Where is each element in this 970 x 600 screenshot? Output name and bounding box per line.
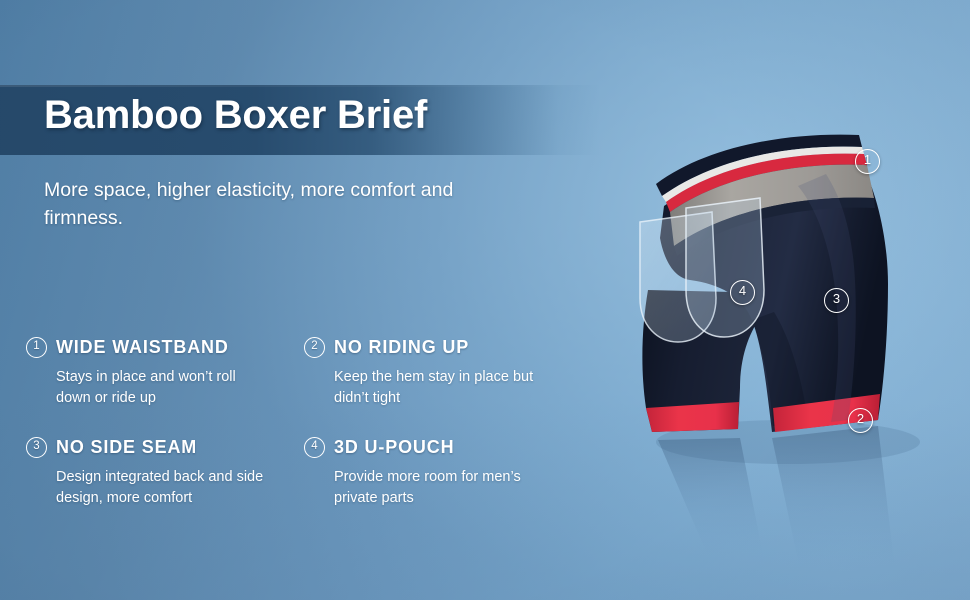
feature-item-4: 4 3D U-POUCH Provide more room for men’s… [304, 436, 582, 536]
infographic-banner: Bamboo Boxer Brief More space, higher el… [0, 0, 970, 600]
feature-1-description: Stays in place and won’t roll down or ri… [56, 367, 271, 409]
page-subtitle: More space, higher elasticity, more comf… [44, 177, 474, 232]
feature-3-title: NO SIDE SEAM [56, 436, 197, 458]
feature-3-heading: 3 NO SIDE SEAM [26, 436, 304, 458]
u-pouch-overlay [640, 198, 764, 342]
feature-1-number-icon: 1 [26, 337, 47, 358]
page-title: Bamboo Boxer Brief [44, 93, 427, 138]
product-callout-3: 3 [824, 288, 849, 313]
feature-4-description: Provide more room for men’s private part… [334, 467, 549, 509]
feature-4-number-icon: 4 [304, 437, 325, 458]
feature-4-heading: 4 3D U-POUCH [304, 436, 582, 458]
feature-item-1: 1 WIDE WAISTBAND Stays in place and won’… [26, 336, 304, 436]
feature-2-description: Keep the hem stay in place but didn’t ti… [334, 367, 549, 409]
feature-1-title: WIDE WAISTBAND [56, 336, 229, 358]
feature-3-description: Design integrated back and side design, … [56, 467, 271, 509]
product-image: 1 2 3 4 [612, 120, 970, 590]
feature-2-heading: 2 NO RIDING UP [304, 336, 582, 358]
feature-1-heading: 1 WIDE WAISTBAND [26, 336, 304, 358]
product-callout-4: 4 [730, 280, 755, 305]
feature-item-3: 3 NO SIDE SEAM Design integrated back an… [26, 436, 304, 536]
feature-2-number-icon: 2 [304, 337, 325, 358]
feature-item-2: 2 NO RIDING UP Keep the hem stay in plac… [304, 336, 582, 436]
feature-3-number-icon: 3 [26, 437, 47, 458]
feature-2-title: NO RIDING UP [334, 336, 469, 358]
feature-4-title: 3D U-POUCH [334, 436, 454, 458]
feature-list: 1 WIDE WAISTBAND Stays in place and won’… [26, 336, 586, 536]
product-callout-1: 1 [855, 149, 880, 174]
product-callout-2: 2 [848, 408, 873, 433]
